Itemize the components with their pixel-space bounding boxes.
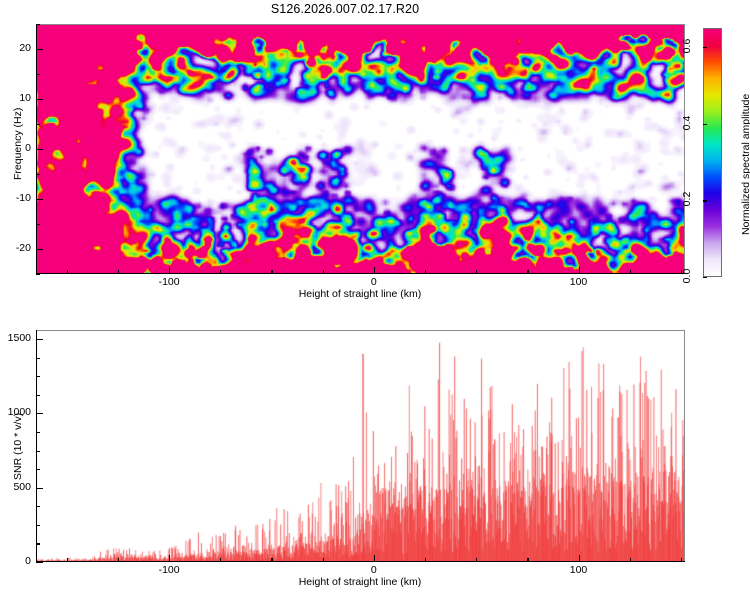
colorbar-ticklabel: 0.2 [681,188,693,210]
snr-y-axis-title: SNR (10 * v/v) [12,413,24,480]
spectrogram-frame-bottom [36,273,685,274]
colorbar-ticklabel: 0.0 [681,265,693,287]
spectrogram-y-axis-title: Frequency (Hz) [12,108,24,180]
x-ticklabel: -100 [159,564,180,576]
colorbar-tick [703,47,707,48]
x-ticklabel: 0 [371,564,377,576]
colorbar-tick [703,277,707,278]
y-ticklabel: 20 [0,42,31,54]
x-ticklabel: 100 [570,276,588,288]
snr-x-axis-title: Height of straight line (km) [299,576,422,588]
figure-canvas: S126.2026.007.02.17.R20 20100-10-20 -100… [0,0,750,600]
snr-frame-right [684,330,685,562]
snr-frame-top [36,330,685,331]
snr-frame-bottom [36,561,685,562]
spectrogram-frame-top [36,24,685,25]
x-ticklabel: 100 [570,564,588,576]
spectrogram-frame-right [684,24,685,274]
colorbar-tick [703,124,707,125]
colorbar-axis-title: Normalized spectral amplitude [740,94,750,235]
y-ticklabel: 500 [0,481,31,493]
y-ticklabel: -20 [0,242,31,254]
y-ticklabel: 10 [0,92,31,104]
snr-trace [36,330,685,562]
snr-panel [36,330,685,562]
page-title: S126.2026.007.02.17.R20 [0,2,690,16]
y-ticklabel: 0 [0,555,31,567]
x-ticklabel: -100 [159,276,180,288]
spectrogram-panel [36,24,685,274]
y-ticklabel: 1500 [0,332,31,344]
spectrogram-x-axis-title: Height of straight line (km) [299,288,422,300]
spectrogram-image [36,24,685,274]
colorbar [703,28,722,277]
snr-frame-left [36,330,37,562]
colorbar-ticklabel: 0.6 [681,35,693,57]
colorbar-gradient [704,29,721,276]
colorbar-tick [703,200,707,201]
x-ticklabel: 0 [371,276,377,288]
colorbar-ticklabel: 0.4 [681,112,693,134]
snr-y-axis-title-text: SNR (10 * v/v) [12,413,24,480]
y-ticklabel: -10 [0,192,31,204]
